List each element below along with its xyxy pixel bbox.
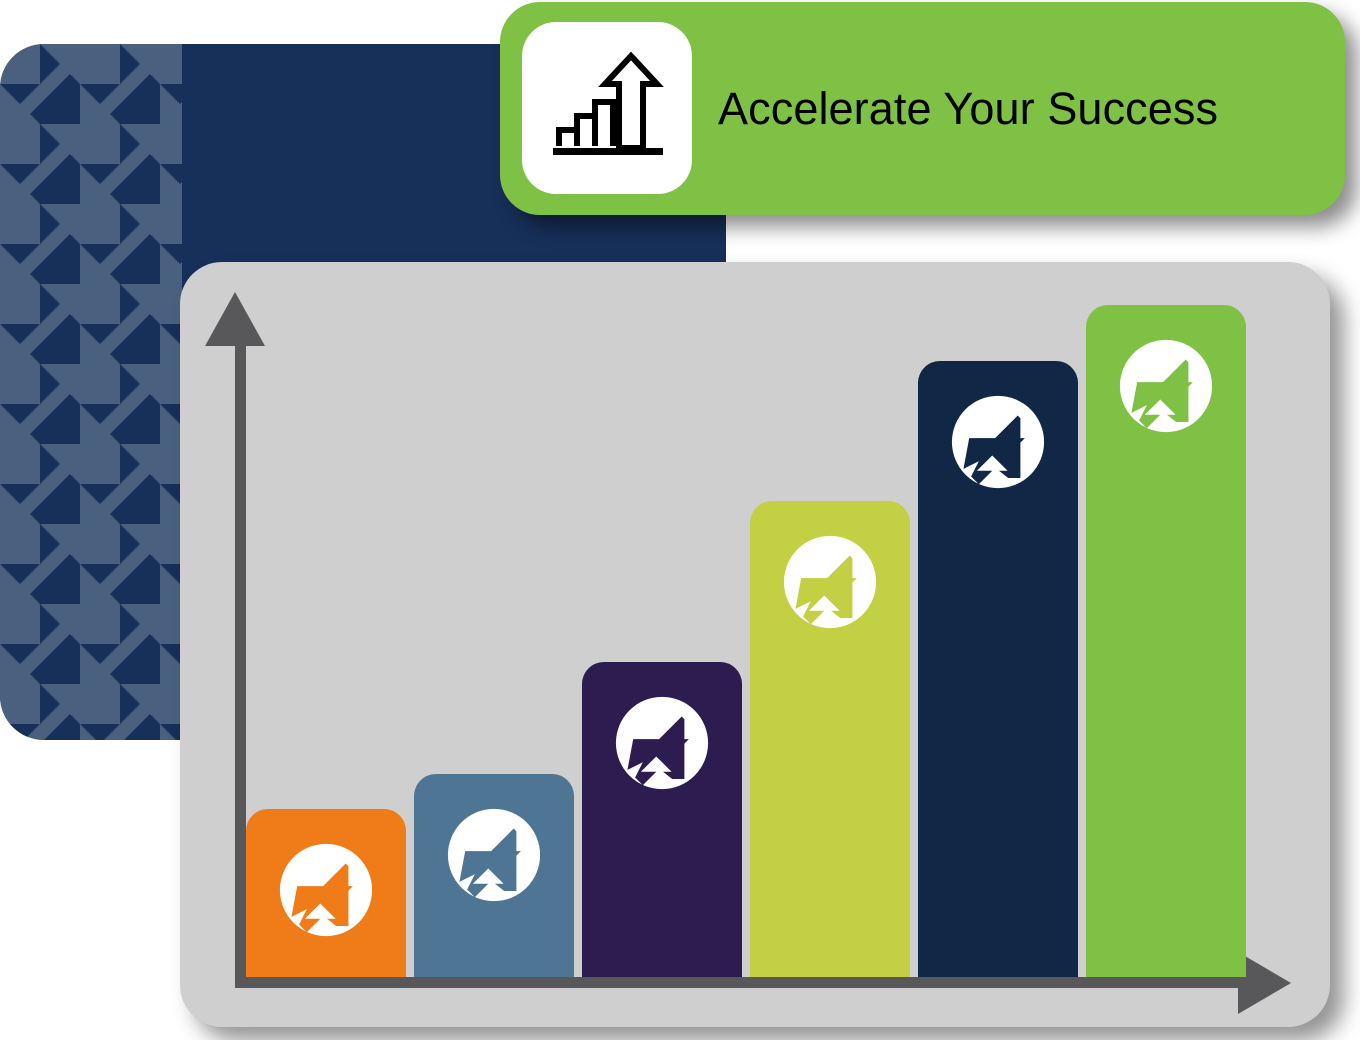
company-arrow-circle-logo — [278, 842, 374, 938]
poster-canvas: Accelerate Your Success — [0, 0, 1360, 1040]
y-axis-line — [235, 330, 246, 988]
bar-3 — [582, 662, 742, 977]
accelerate-banner[interactable]: Accelerate Your Success — [500, 2, 1345, 215]
bar-4 — [750, 501, 910, 977]
bar-1 — [246, 809, 406, 977]
company-arrow-circle-logo — [614, 695, 710, 791]
bar-5 — [918, 361, 1078, 977]
bar-chart — [180, 262, 1330, 1027]
bar-2 — [414, 774, 574, 977]
houndstooth-pattern-fill — [0, 44, 182, 740]
bar-group — [246, 277, 1246, 977]
company-arrow-circle-logo — [446, 807, 542, 903]
x-axis-line — [235, 977, 1245, 988]
company-arrow-circle-logo — [950, 394, 1046, 490]
bar-6 — [1086, 305, 1246, 977]
company-arrow-circle-logo — [782, 534, 878, 630]
chart-card — [180, 262, 1330, 1027]
banner-title: Accelerate Your Success — [718, 2, 1218, 215]
growth-bar-chart-arrow-icon — [522, 22, 692, 194]
company-arrow-circle-logo — [1118, 338, 1214, 434]
